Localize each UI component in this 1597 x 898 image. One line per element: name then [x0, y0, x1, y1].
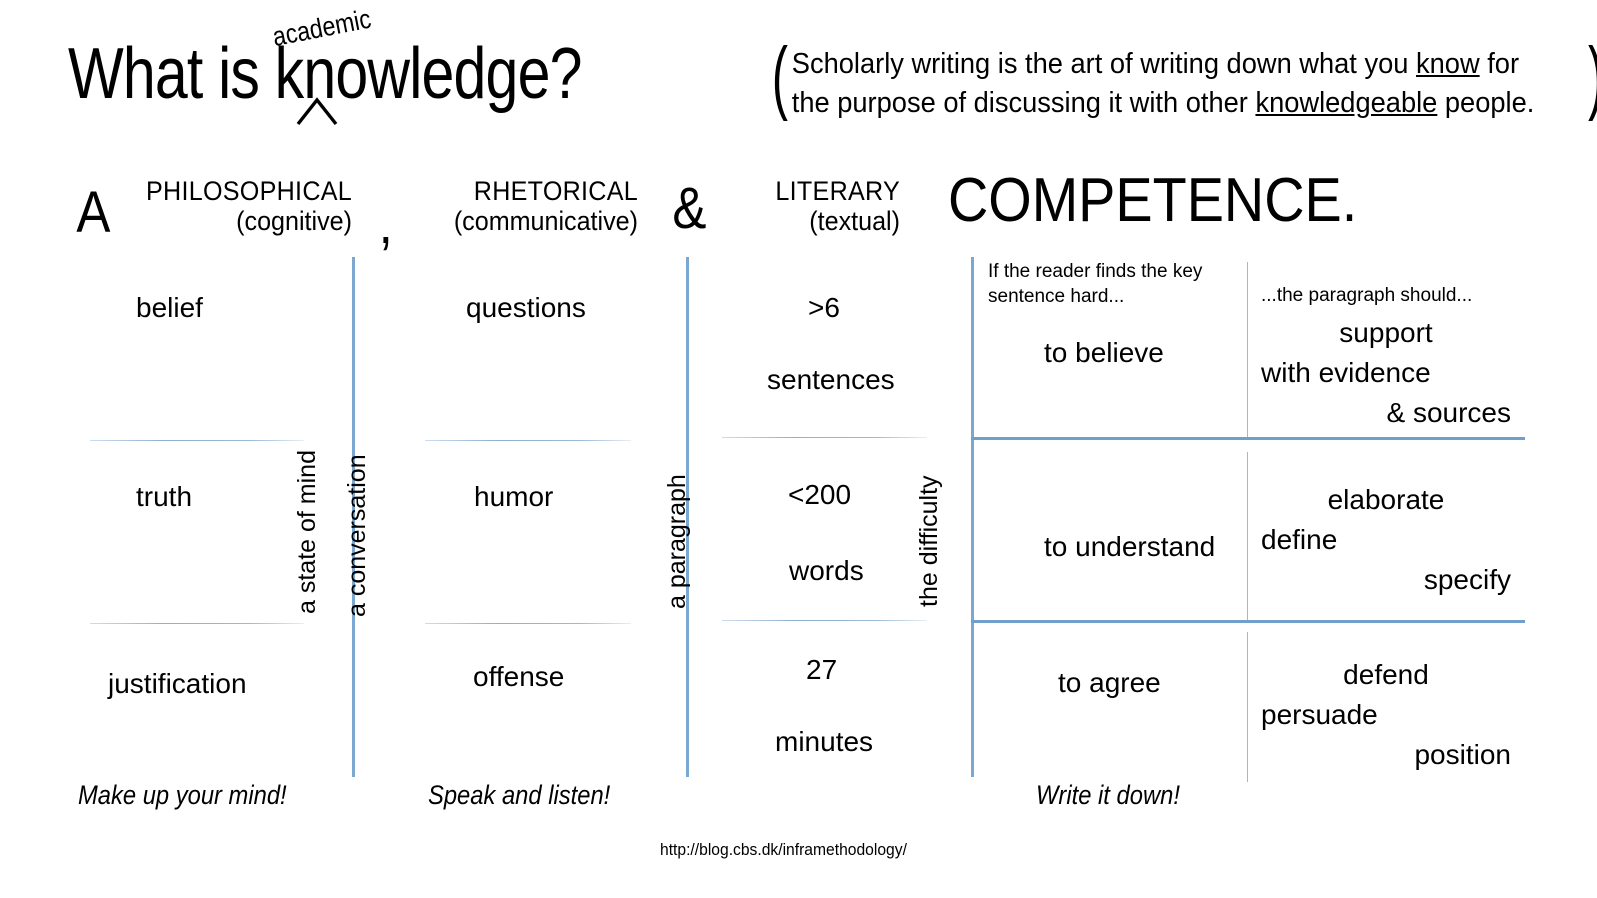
aside-line-1: Scholarly writing is the art of writing …	[792, 45, 1535, 84]
header-reader-difficulty: If the reader finds the key sentence har…	[988, 260, 1213, 309]
cell-minutes-count: 27	[806, 650, 837, 690]
underlined-know: know	[1416, 48, 1480, 80]
cell-sentences-unit: sentences	[767, 360, 895, 400]
label-a-paragraph: a paragraph	[663, 474, 692, 609]
cell-truth: truth	[136, 477, 192, 517]
separator-difficulty-1	[971, 437, 1525, 440]
separator-literary-2	[722, 620, 927, 621]
remedy-group-support: support with evidence & sources	[1261, 313, 1511, 432]
source-url[interactable]: http://blog.cbs.dk/inframethodology/	[660, 840, 907, 860]
separator-literary-1	[722, 437, 927, 438]
category-literary: LITERARY (textual)	[621, 176, 900, 236]
divider-remedy-row2	[1247, 452, 1248, 620]
caret-insert-icon	[296, 96, 338, 126]
remedy-group-elaborate: elaborate define specify	[1261, 480, 1511, 599]
label-a-conversation: a conversation	[343, 454, 372, 617]
aside-line-2: the purpose of discussing it with other …	[792, 84, 1535, 123]
close-paren-glyph: )	[1588, 38, 1597, 124]
header-paragraph-should: ...the paragraph should...	[1261, 284, 1472, 309]
aside-parenthetical: ( Scholarly writing is the art of writin…	[762, 40, 1597, 122]
label-a-state-of-mind: a state of mind	[293, 450, 322, 614]
divider-literary-right	[971, 257, 974, 777]
divider-remedy-row3	[1247, 632, 1248, 782]
cell-to-agree: to agree	[1058, 663, 1161, 703]
cell-to-believe: to believe	[1044, 333, 1164, 373]
divider-remedy-row1	[1247, 262, 1248, 440]
cell-humor: humor	[474, 477, 553, 517]
cell-sentences-count: >6	[808, 288, 840, 328]
separator-philosophical-1	[90, 440, 304, 441]
aside-text: Scholarly writing is the art of writing …	[788, 40, 1540, 122]
underlined-knowledgeable: knowledgeable	[1255, 87, 1437, 119]
separator-rhetorical-1	[425, 440, 631, 441]
category-philosophical: PHILOSOPHICAL (cognitive)	[25, 176, 352, 236]
caption-make-up-your-mind: Make up your mind!	[78, 780, 287, 811]
separator-difficulty-2	[971, 620, 1525, 623]
subtitle-row: A PHILOSOPHICAL (cognitive) , RHETORICAL…	[0, 168, 1597, 248]
remedy-group-defend: defend persuade position	[1261, 655, 1511, 774]
cell-justification: justification	[108, 664, 247, 704]
open-paren-glyph: (	[772, 38, 788, 124]
cell-minutes-unit: minutes	[775, 722, 873, 762]
subtitle-predicate: COMPETENCE.	[948, 170, 1357, 232]
caption-write-it-down: Write it down!	[1036, 780, 1180, 811]
separator-philosophical-2	[90, 623, 304, 624]
cell-offense: offense	[473, 657, 564, 697]
cell-words-count: <200	[788, 475, 851, 515]
cell-belief: belief	[136, 288, 203, 328]
separator-rhetorical-2	[425, 623, 631, 624]
category-rhetorical: RHETORICAL (communicative)	[305, 176, 638, 236]
cell-words-unit: words	[789, 551, 864, 591]
label-the-difficulty: the difficulty	[915, 475, 944, 607]
cell-questions: questions	[466, 288, 586, 328]
slide-canvas: What is knowledge? academic ( Scholarly …	[0, 0, 1597, 898]
caption-speak-and-listen: Speak and listen!	[428, 780, 610, 811]
cell-to-understand: to understand	[1044, 527, 1215, 567]
